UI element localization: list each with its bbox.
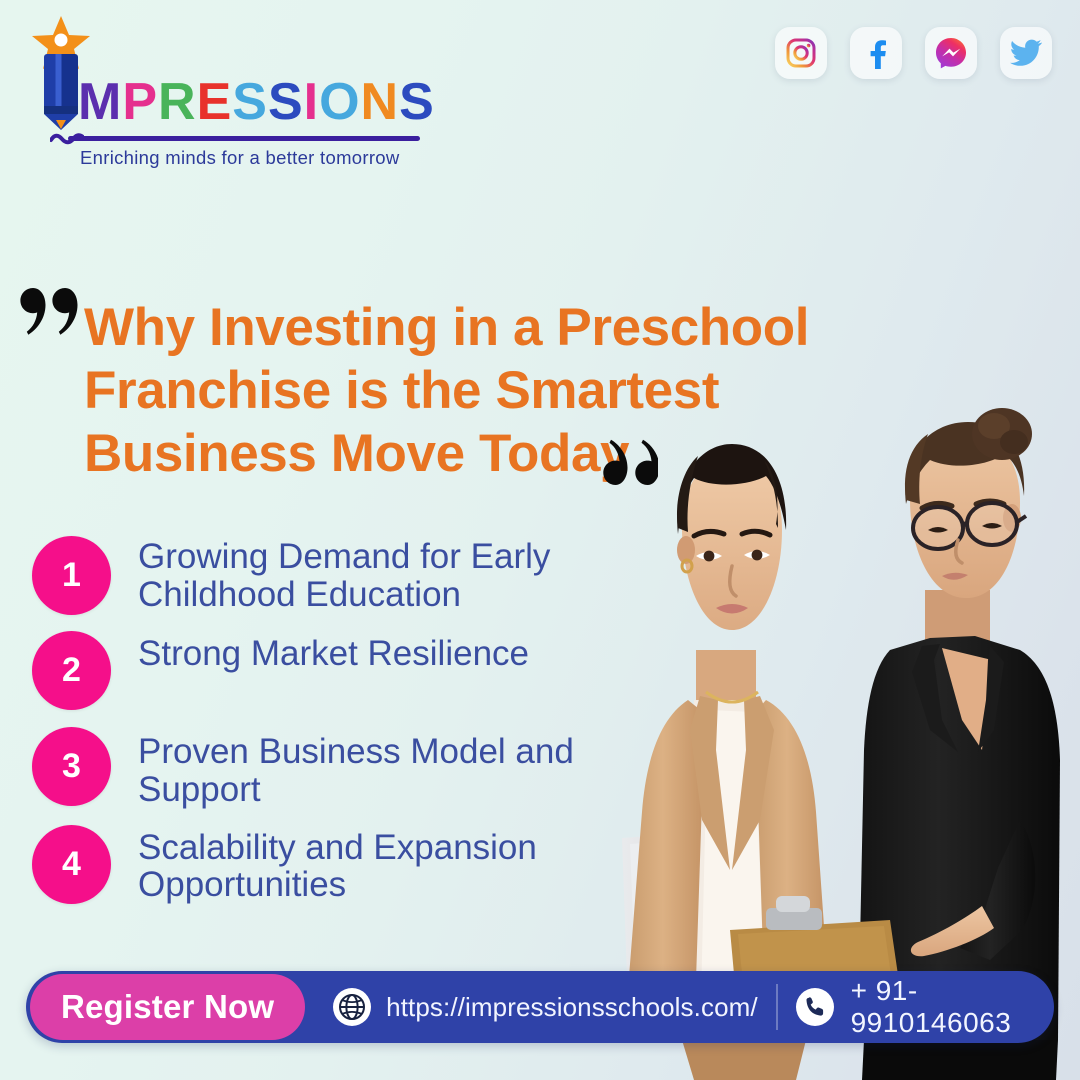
logo-letter: P — [122, 76, 158, 128]
logo-underline — [68, 136, 420, 141]
twitter-icon[interactable] — [1000, 27, 1052, 79]
phone-icon — [796, 988, 834, 1026]
list-item: 1 Growing Demand for Early Childhood Edu… — [32, 532, 652, 615]
logo-letter: R — [158, 76, 197, 128]
logo-letter: E — [197, 76, 233, 128]
list-item-text: Proven Business Model and Support — [138, 727, 574, 809]
brand-logo[interactable]: MPRESSIONS Enriching minds for a better … — [26, 14, 426, 164]
phone-number: + 91-9910146063 — [851, 975, 1054, 1039]
facebook-icon[interactable] — [850, 27, 902, 79]
website-contact[interactable]: https://impressionsschools.com/ — [333, 988, 758, 1026]
poster-canvas: MPRESSIONS Enriching minds for a better … — [0, 0, 1080, 1080]
list-item-text: Scalability and Expansion Opportunities — [138, 825, 537, 905]
list-item-badge: 3 — [32, 727, 111, 806]
list-item-line-1: Strong Market Resilience — [138, 634, 529, 673]
register-now-button[interactable]: Register Now — [30, 974, 305, 1040]
headline-line-1: Why Investing in a Preschool — [84, 296, 824, 359]
list-item-badge: 2 — [32, 631, 111, 710]
messenger-icon[interactable] — [925, 27, 977, 79]
logo-letter: I — [304, 76, 319, 128]
list-item: 4 Scalability and Expansion Opportunitie… — [32, 825, 652, 905]
contact-bar: Register Now https://impressionsschools.… — [26, 971, 1054, 1043]
list-item-line-1: Scalability and Expansion — [138, 828, 537, 867]
list-item-line-2: Support — [138, 771, 574, 809]
list-item-badge: 4 — [32, 825, 111, 904]
benefits-list: 1 Growing Demand for Early Childhood Edu… — [32, 532, 652, 920]
list-item-line-2: Opportunities — [138, 866, 537, 904]
bar-divider — [776, 984, 778, 1030]
list-item-line-2: Childhood Education — [138, 576, 550, 614]
list-item: 3 Proven Business Model and Support — [32, 727, 652, 809]
instagram-icon[interactable] — [775, 27, 827, 79]
logo-letter: S — [232, 76, 268, 128]
brand-tagline: Enriching minds for a better tomorrow — [80, 147, 440, 169]
logo-letter: S — [268, 76, 304, 128]
list-item-badge: 1 — [32, 536, 111, 615]
list-item-line-1: Growing Demand for Early — [138, 537, 550, 576]
website-url: https://impressionsschools.com/ — [386, 992, 758, 1023]
phone-contact[interactable]: + 91-9910146063 — [796, 975, 1054, 1039]
brand-wordmark: MPRESSIONS — [78, 76, 426, 128]
quote-open-icon — [20, 284, 80, 336]
logo-letter: N — [361, 76, 400, 128]
logo-letter: O — [319, 76, 360, 128]
globe-icon — [333, 988, 371, 1026]
logo-letter: S — [399, 76, 435, 128]
list-item: 2 Strong Market Resilience — [32, 631, 652, 710]
list-item-text: Strong Market Resilience — [138, 631, 529, 673]
social-links — [775, 27, 1052, 79]
list-item-line-1: Proven Business Model and — [138, 732, 574, 771]
logo-letter: M — [78, 76, 122, 128]
list-item-text: Growing Demand for Early Childhood Educa… — [138, 532, 550, 614]
